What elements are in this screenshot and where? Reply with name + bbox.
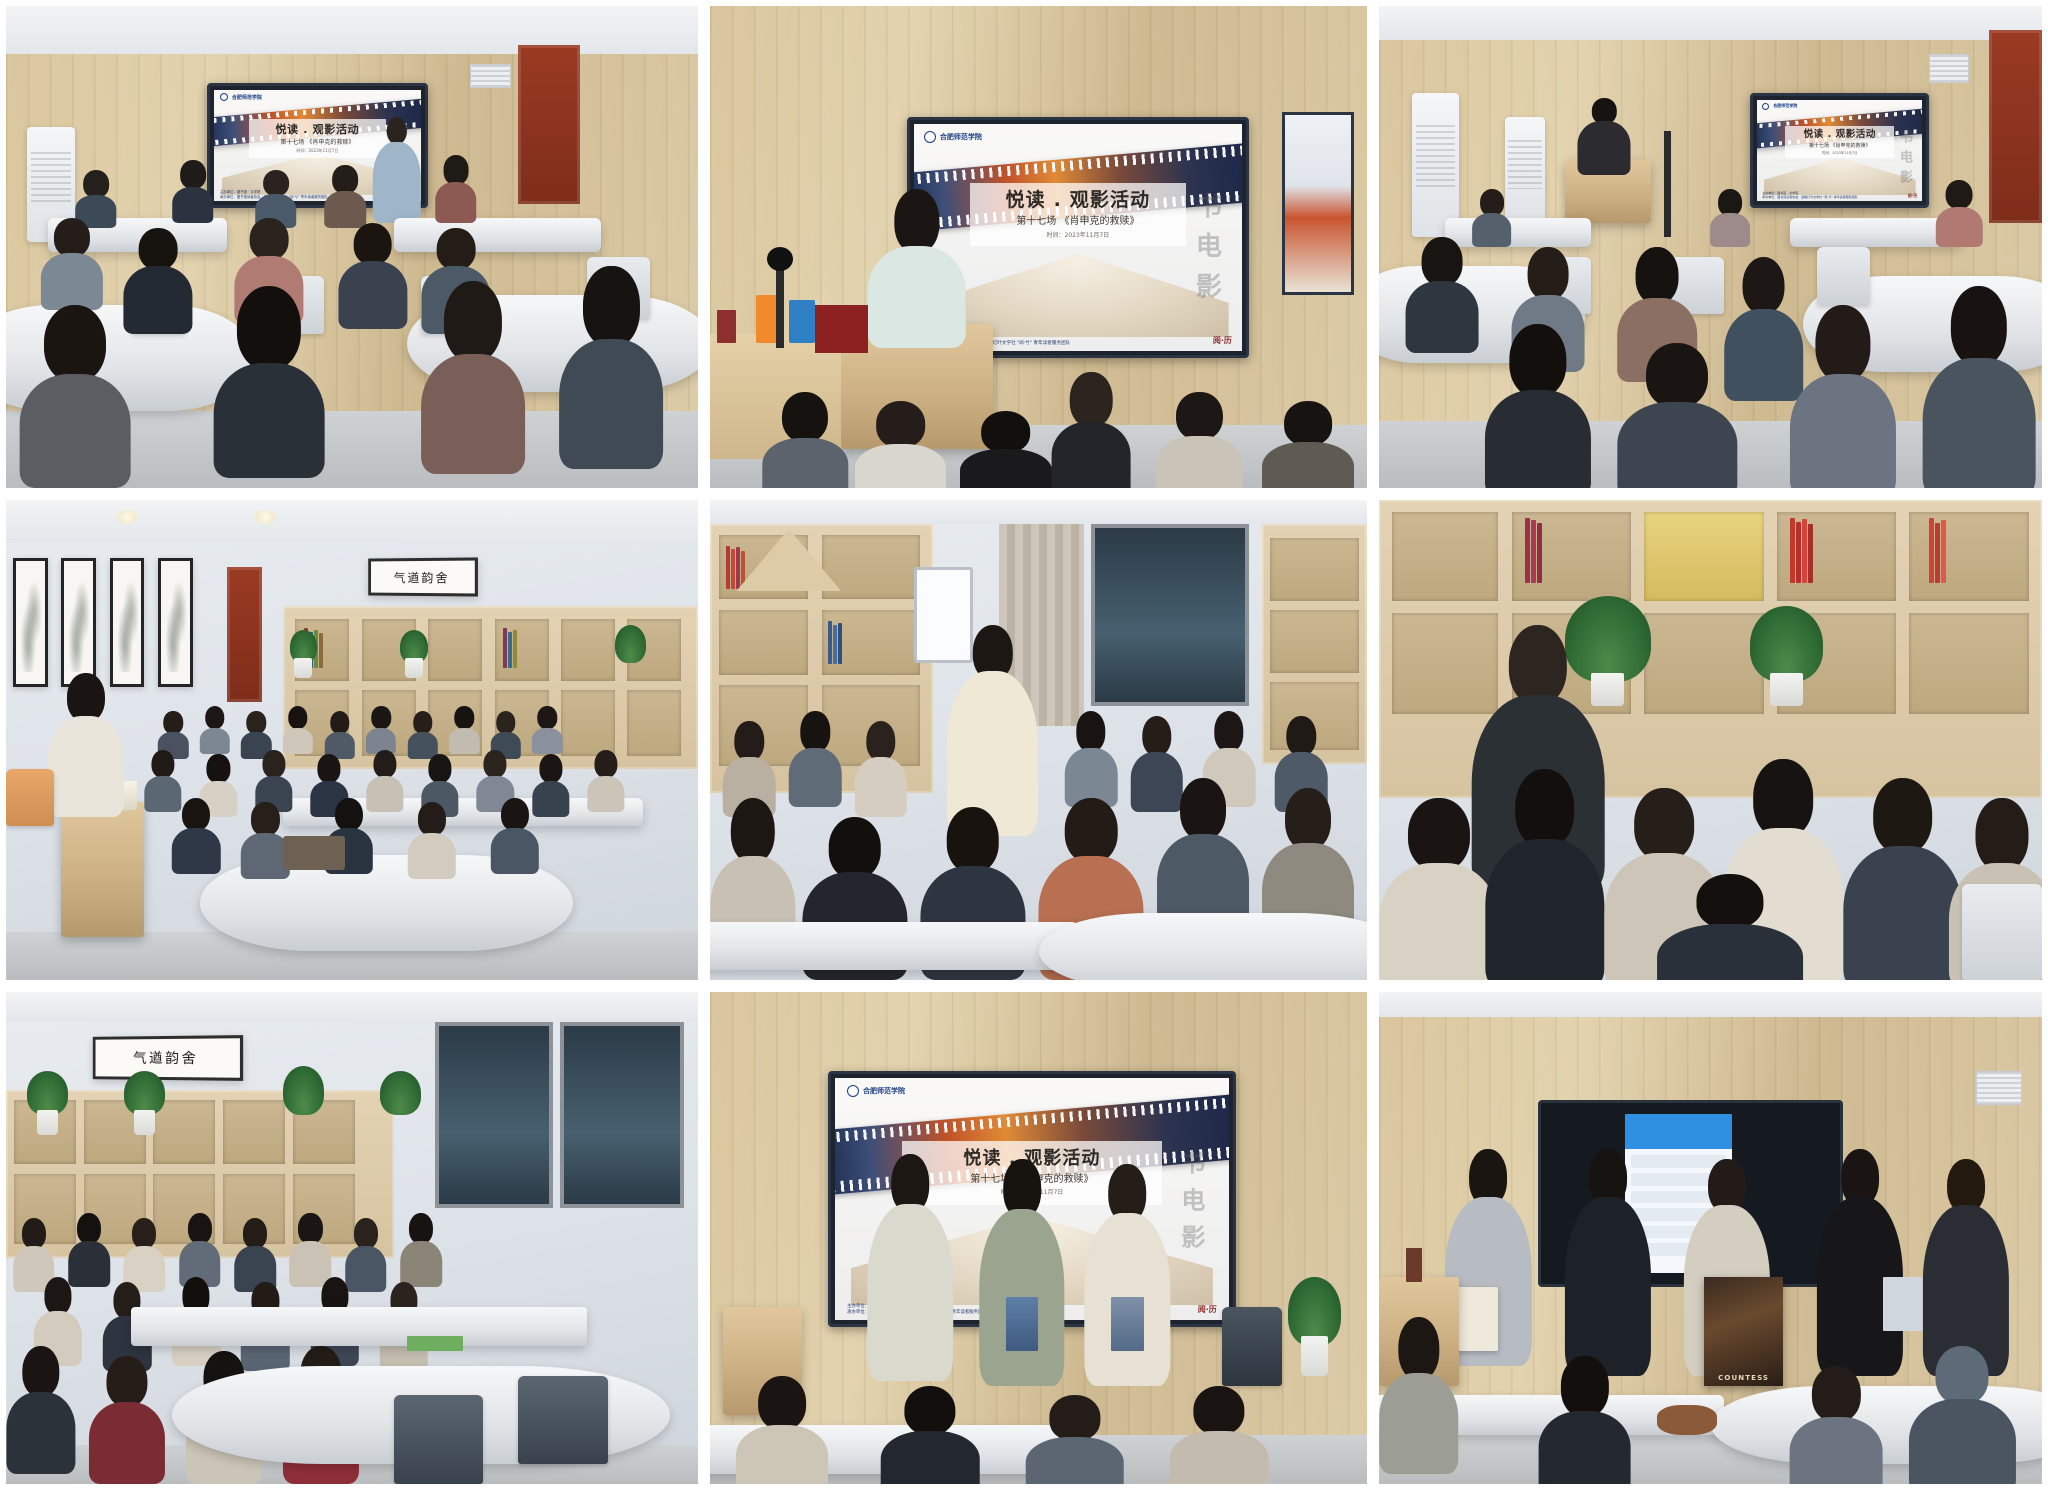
ceiling	[1379, 992, 2042, 1017]
small-box	[717, 310, 737, 344]
ceiling-light	[255, 510, 276, 524]
audience-member-foreground	[1790, 1366, 1883, 1484]
plant-pot	[1770, 673, 1803, 707]
tripod	[1664, 131, 1671, 237]
audience-member	[449, 706, 479, 754]
podium-speaker	[868, 189, 967, 348]
audience-member	[1065, 711, 1118, 807]
slide-subtitle: 第十七场 《肖申克的救赎》	[1789, 143, 1891, 149]
slide-footer: 主办单位：图书馆 · 文学院 承办单位：图书馆读者协会 · 晨曦灯叶文学社 "阅…	[1762, 191, 1917, 199]
audience-member	[200, 706, 230, 754]
award-winner	[1084, 1164, 1169, 1385]
audience-member	[1936, 180, 1982, 247]
decorative-chars: 书 电 影	[1188, 192, 1225, 301]
collage-cell-middle-center	[704, 494, 1373, 986]
red-folder	[815, 305, 868, 353]
audience-member-foreground	[6, 1346, 75, 1474]
audience-member-foreground	[881, 1386, 980, 1484]
audience-member-foreground	[1790, 305, 1896, 488]
wall-mounted-screen[interactable]: 合肥师范学院 书 电 影 悦读 . 观影活动 第十七场 《肖申克的救赎》 时间：…	[1750, 93, 1929, 209]
books-row	[828, 621, 842, 664]
award-winner	[979, 1159, 1064, 1385]
audience-member-foreground	[421, 281, 525, 474]
university-name: 合肥师范学院	[940, 132, 982, 142]
presenter	[48, 673, 124, 817]
chair	[518, 1376, 608, 1465]
slide-date: 时间：2023年11月7日	[253, 148, 382, 153]
audience-member	[68, 1213, 110, 1287]
books-row	[726, 546, 745, 589]
audience-member	[41, 218, 103, 310]
audience-member-foreground	[960, 411, 1052, 488]
audience-member	[290, 1213, 332, 1287]
slide-footer-brand: 阅·历	[1198, 1304, 1217, 1315]
books-row	[1525, 518, 1542, 583]
potted-plant	[27, 1071, 69, 1115]
slide-caption: 悦读 . 观影活动 第十七场 《肖申克的救赎》 时间：2023年11月7日	[970, 183, 1186, 246]
audience-member-foreground	[736, 1376, 828, 1484]
ceiling	[1379, 6, 2042, 40]
plant-pot	[294, 658, 312, 677]
slide-subtitle: 第十七场 《肖申克的救赎》	[976, 216, 1179, 229]
bottle	[1406, 1248, 1423, 1282]
round-table	[1039, 913, 1368, 980]
chair	[1817, 247, 1870, 305]
audience-member-foreground	[214, 286, 325, 479]
audience-member	[172, 798, 220, 875]
university-seal-icon	[847, 1085, 859, 1097]
orange-chair	[6, 769, 54, 827]
university-logo: 合肥师范学院	[220, 93, 262, 101]
audience-member-foreground	[89, 1356, 165, 1484]
handbag	[283, 836, 345, 870]
student-foreground	[1485, 769, 1604, 980]
photo-library-teacher	[1379, 500, 2042, 980]
university-seal-icon	[220, 93, 228, 101]
framed-ink-painting	[158, 558, 193, 688]
audience-member	[124, 228, 193, 334]
prize-recipient	[1817, 1149, 1903, 1375]
wall-poster	[1282, 112, 1354, 295]
plant-pot	[37, 1110, 58, 1135]
photo-classroom-wide: 合肥师范学院 书 电 影 悦读 . 观影活动 第十七场 《肖申克的救赎》 时间：…	[1379, 6, 2042, 488]
audience-member	[1406, 237, 1479, 353]
slide-caption: 悦读 . 观影活动 第十七场 《肖申克的救赎》 时间：2023年11月7日	[249, 119, 386, 158]
audience-member-foreground	[1170, 1386, 1269, 1484]
window	[1091, 524, 1249, 706]
audience-member	[283, 706, 313, 754]
plant-pot	[1301, 1336, 1327, 1375]
audience-member	[855, 721, 908, 817]
prize-book	[1006, 1297, 1039, 1351]
photo-award-winners: 合肥师范学院 书 电 影 悦读 . 观影活动 第十七场 《肖申克的救赎》 时间：…	[710, 992, 1367, 1484]
audience-member	[490, 798, 538, 875]
audience-member	[234, 1218, 276, 1292]
university-seal-icon	[924, 131, 936, 143]
audience-member	[124, 1218, 166, 1292]
microphone-icon	[767, 247, 793, 271]
student-foreground	[1379, 798, 1498, 980]
lectern	[61, 802, 144, 936]
audience-member-foreground	[1157, 392, 1242, 488]
prize-recipient	[1565, 1149, 1651, 1375]
bag	[1657, 1405, 1717, 1435]
potted-plant	[1750, 606, 1823, 683]
collage-cell-middle-left: 气遒韵舍	[0, 494, 704, 986]
audience-member	[400, 1213, 442, 1287]
audience-member-foreground	[763, 392, 848, 488]
collage-cell-bottom-right: COUNTESS	[1373, 986, 2048, 1490]
chair	[394, 1395, 484, 1484]
plant-pot	[405, 658, 423, 677]
audience-member-foreground	[1485, 324, 1591, 488]
audience-member-foreground	[1262, 401, 1354, 488]
audience-member-foreground	[1618, 343, 1737, 488]
slide-title: 悦读 . 观影活动	[1789, 129, 1891, 141]
audience-member	[789, 711, 842, 807]
photo-group-prize-presentation: COUNTESS	[1379, 992, 2042, 1484]
calligraphy-banner: 气遒韵舍	[368, 557, 477, 597]
audience-member	[172, 160, 214, 223]
poster-prize: COUNTESS	[1704, 1277, 1784, 1385]
standing-speaker	[947, 625, 1039, 836]
photo-classroom-front-host: 合肥师范学院 书 电 影 悦读 . 观影活动 第十七场 《肖申克的救赎》 时间：…	[6, 6, 698, 488]
audience-member-foreground	[1923, 286, 2036, 488]
slide-date: 时间：2023年11月7日	[1789, 151, 1891, 155]
wall-vent	[1976, 1071, 2022, 1105]
wall-vent	[1929, 54, 1969, 83]
potted-plant	[124, 1071, 166, 1115]
photo-collage: 合肥师范学院 书 电 影 悦读 . 观影活动 第十七场 《肖申克的救赎》 时间：…	[0, 0, 2048, 1490]
slide-caption: 悦读 . 观影活动 第十七场 《肖申克的救赎》 时间：2023年11月7日	[1785, 126, 1894, 158]
framed-ink-painting	[61, 558, 96, 688]
app-header	[1625, 1114, 1733, 1149]
slide-footer-brand: 阅·历	[1213, 335, 1232, 346]
audience-member-foreground	[855, 401, 947, 488]
photo-library-reading-room: 气遒韵舍	[6, 500, 698, 980]
slide-date: 时间：2023年11月7日	[976, 232, 1179, 240]
microphone-stand	[776, 261, 784, 348]
potted-plant	[615, 625, 646, 663]
slide-footer-brand: 阅·历	[1908, 193, 1918, 199]
audience-member	[407, 711, 437, 759]
photo-library-audience-wide: 气遒韵舍	[6, 992, 698, 1484]
plant-pot	[134, 1110, 155, 1135]
decorative-chars: 书 电 影	[1895, 130, 1914, 185]
chair	[1222, 1307, 1281, 1386]
event-slide: 合肥师范学院 书 电 影 悦读 . 观影活动 第十七场 《肖申克的救赎》 时间：…	[1757, 100, 1922, 202]
audience-member	[587, 750, 624, 812]
shelf-box	[561, 619, 615, 681]
audience-member	[407, 802, 455, 879]
potted-plant	[283, 1066, 325, 1115]
framed-ink-painting	[110, 558, 145, 688]
audience-member	[179, 1213, 221, 1287]
audience-member	[324, 711, 354, 759]
audience-member	[366, 706, 396, 754]
audience-member	[1711, 189, 1751, 247]
red-door	[518, 45, 580, 204]
student-foreground	[1657, 874, 1803, 980]
slide-subtitle: 第十七场 《肖申克的救赎》	[253, 139, 382, 147]
prize-recipient	[1923, 1159, 2009, 1375]
audience-member	[435, 155, 477, 222]
shelf-box	[627, 690, 681, 755]
books-row	[1790, 518, 1813, 583]
slide-footer-coorganizer: 承办单位：图书馆读者协会 · 晨曦灯叶文学社 "阅·兮" 青年读者服务团队	[1762, 195, 1857, 199]
red-door	[227, 567, 262, 701]
drink-box	[789, 300, 815, 343]
podium-speaker	[1578, 98, 1631, 175]
university-name: 合肥师范学院	[863, 1086, 905, 1096]
photo-podium-speaker: 合肥师范学院 书 电 影 悦读 . 观影活动 第十七场 《肖申克的救赎》 时间：…	[710, 6, 1367, 488]
collage-cell-bottom-left: 气遒韵舍	[0, 986, 704, 1490]
slide-title: 悦读 . 观影活动	[253, 123, 382, 137]
long-table	[710, 922, 1078, 970]
slide-title: 悦读 . 观影活动	[976, 189, 1179, 213]
university-name: 合肥师范学院	[232, 94, 262, 101]
ceiling	[710, 500, 1367, 524]
collage-cell-top-left: 合肥师范学院 书 电 影 悦读 . 观影活动 第十七场 《肖申克的救赎》 时间：…	[0, 0, 704, 494]
audience-member-foreground	[1909, 1346, 2015, 1484]
collage-cell-top-center: 合肥师范学院 书 电 影 悦读 . 观影活动 第十七场 《肖申克的救赎》 时间：…	[704, 0, 1373, 494]
books-row	[503, 628, 517, 667]
potted-plant	[380, 1071, 422, 1115]
window	[560, 1022, 685, 1209]
collage-cell-bottom-center: 合肥师范学院 书 电 影 悦读 . 观影活动 第十七场 《肖申克的救赎》 时间：…	[704, 986, 1373, 1490]
shelf-box	[428, 619, 482, 681]
host-presenter	[373, 117, 421, 223]
long-table	[131, 1307, 588, 1346]
student-foreground	[1843, 778, 1962, 980]
ceiling	[6, 6, 698, 54]
audience-member	[532, 706, 562, 754]
air-conditioner	[1412, 93, 1458, 238]
book-prize	[1883, 1277, 1923, 1331]
calligraphy-banner: 气遒韵舍	[93, 1035, 244, 1081]
collage-cell-top-right: 合肥师范学院 书 电 影 悦读 . 观影活动 第十七场 《肖申克的救赎》 时间：…	[1373, 0, 2048, 494]
framed-ink-painting	[13, 558, 48, 688]
audience-member-foreground	[1025, 1395, 1124, 1484]
university-logo: 合肥师范学院	[924, 131, 982, 143]
audience-member-foreground	[1538, 1356, 1631, 1484]
ceiling	[6, 500, 698, 543]
photo-library-standing-speaker	[710, 500, 1367, 980]
university-seal-icon	[1762, 103, 1769, 110]
audience-member-foreground	[20, 305, 131, 488]
ceiling	[6, 992, 698, 1022]
collage-cell-middle-right	[1373, 494, 2048, 986]
window	[435, 1022, 553, 1209]
screen-surface: 合肥师范学院 书 电 影 悦读 . 观影活动 第十七场 《肖申克的救赎》 时间：…	[1757, 100, 1922, 202]
prize-book	[1111, 1297, 1144, 1351]
red-door	[1989, 30, 2042, 223]
university-logo: 合肥师范学院	[847, 1085, 905, 1097]
university-logo: 合肥师范学院	[1762, 103, 1797, 110]
audience-member-foreground	[1052, 372, 1131, 488]
university-name: 合肥师范学院	[1773, 103, 1797, 109]
audience-member	[324, 165, 366, 228]
books-row	[1929, 518, 1946, 583]
audience-member-foreground	[560, 266, 664, 468]
notebook	[407, 1336, 462, 1351]
award-winner	[868, 1154, 953, 1380]
chair	[1962, 884, 2042, 980]
wall-vent	[470, 64, 512, 88]
decorative-chars: 书 电 影	[1174, 1150, 1209, 1251]
audience-member	[338, 223, 407, 329]
audience-member-foreground	[1379, 1317, 1459, 1474]
shelf-box	[561, 690, 615, 755]
